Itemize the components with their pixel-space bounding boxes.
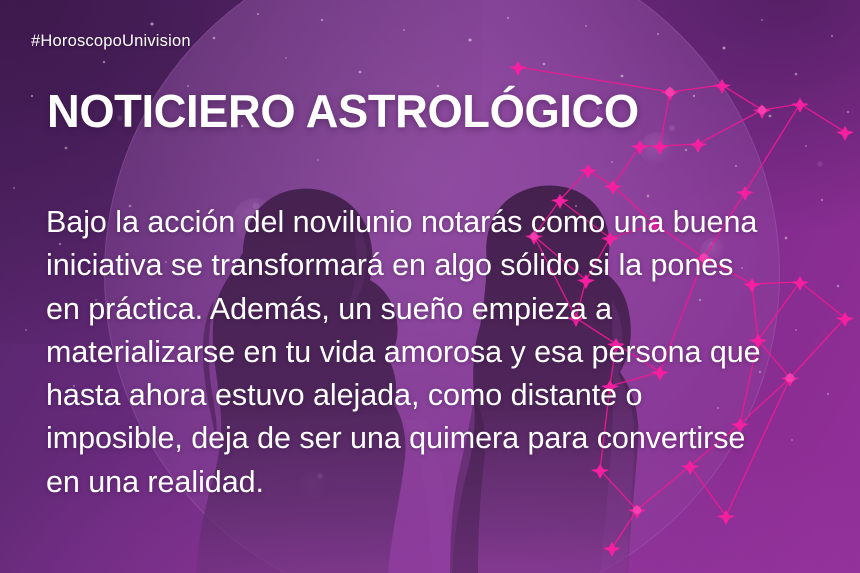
horoscope-body: Bajo la acción del novilunio notarás com… xyxy=(46,201,836,504)
page-title: NOTICIERO ASTROLÓGICO xyxy=(47,86,639,136)
horoscope-card: #HoroscopoUnivision NOTICIERO ASTROLÓGIC… xyxy=(0,0,860,573)
horoscope-paragraph: Bajo la acción del novilunio notarás com… xyxy=(46,201,836,504)
text-content: #HoroscopoUnivision NOTICIERO ASTROLÓGIC… xyxy=(0,0,860,573)
hashtag-label: #HoroscopoUnivision xyxy=(31,32,191,51)
